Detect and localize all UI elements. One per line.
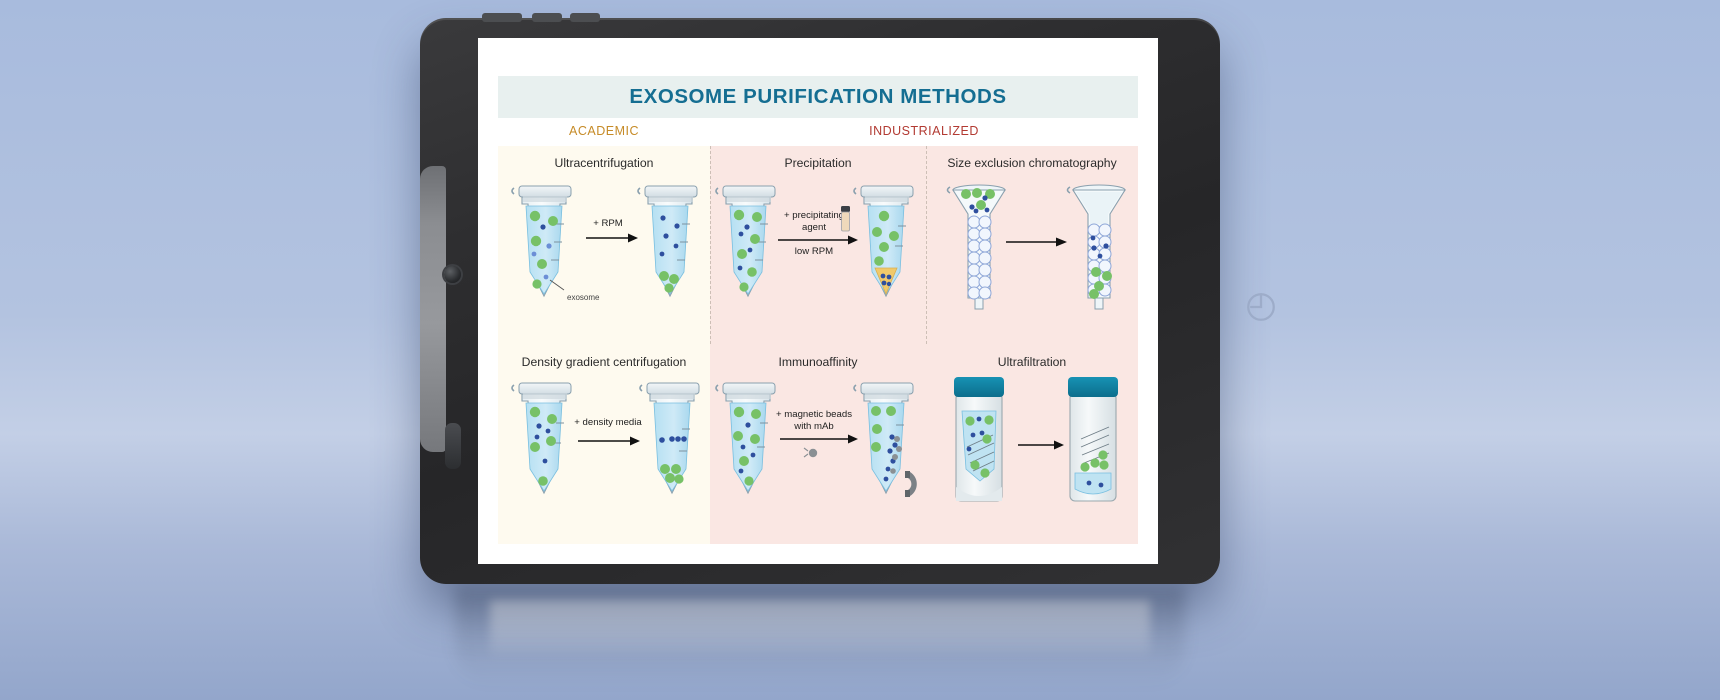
panel-title-size-exclusion-chromatography: Size exclusion chromatography <box>926 156 1138 170</box>
tablet-side-button[interactable] <box>445 423 461 469</box>
arrow-label-precipitating-agent-line1: + precipitating <box>784 210 844 221</box>
tablet-screen[interactable]: EXOSOME PURIFICATION METHODS ACADEMIC IN… <box>478 38 1158 564</box>
scene: EXOSOME PURIFICATION METHODS ACADEMIC IN… <box>0 0 1720 700</box>
reagent-vial-icon <box>841 206 850 231</box>
tablet-top-button-2[interactable] <box>532 13 562 22</box>
arrow-label-magnetic-beads-line1: + magnetic beads <box>776 409 852 420</box>
panel-ultrafiltration[interactable]: Ultrafiltration <box>926 345 1138 544</box>
page-title: EXOSOME PURIFICATION METHODS <box>629 85 1006 109</box>
power-icon[interactable] <box>1244 290 1278 324</box>
poster-title-bar: EXOSOME PURIFICATION METHODS <box>498 76 1138 118</box>
tablet-side-panel <box>420 166 446 452</box>
arrow-label-magnetic-beads-line2: with mAb <box>793 421 833 432</box>
tablet-top-button-1[interactable] <box>482 13 522 22</box>
diagram-ultracentrifugation: exosome + RPM <box>498 178 710 343</box>
category-label-industrialized: INDUSTRIALIZED <box>710 124 1138 138</box>
diagram-ultrafiltration <box>926 373 1138 538</box>
tablet-top-button-3[interactable] <box>570 13 600 22</box>
camera-icon <box>444 266 461 283</box>
panel-title-precipitation: Precipitation <box>710 156 926 170</box>
diagram-precipitation: + precipitating agent low RPM <box>710 178 926 343</box>
arrow-label-density-media: + density media <box>574 417 642 428</box>
tablet-device: EXOSOME PURIFICATION METHODS ACADEMIC IN… <box>420 18 1220 584</box>
infographic: EXOSOME PURIFICATION METHODS ACADEMIC IN… <box>478 38 1158 564</box>
panel-ultracentrifugation[interactable]: Ultracentrifugation <box>498 146 710 345</box>
arrow-label-rpm: + RPM <box>593 218 623 229</box>
panel-title-ultrafiltration: Ultrafiltration <box>926 355 1138 369</box>
arrow-label-low-rpm: low RPM <box>795 246 833 257</box>
diagram-size-exclusion-chromatography <box>926 176 1138 341</box>
diagram-density-gradient-centrifugation: + density media <box>498 375 710 540</box>
category-label-academic: ACADEMIC <box>498 124 710 138</box>
magnet-icon <box>905 471 917 497</box>
panel-density-gradient-centrifugation[interactable]: Density gradient centrifugation <box>498 345 710 544</box>
magnetic-bead-icon <box>804 448 817 457</box>
panel-precipitation[interactable]: Precipitation <box>710 146 926 345</box>
diagram-immunoaffinity: + magnetic beads with mAb <box>710 375 926 540</box>
panel-title-immunoaffinity: Immunoaffinity <box>710 355 926 369</box>
panel-title-density-gradient-centrifugation: Density gradient centrifugation <box>498 355 710 369</box>
tablet-reflection-highlight <box>490 600 1150 660</box>
panel-title-ultracentrifugation: Ultracentrifugation <box>498 156 710 170</box>
panel-size-exclusion-chromatography[interactable]: Size exclusion chromatography <box>926 146 1138 345</box>
arrow-label-precipitating-agent-line2: agent <box>802 222 826 233</box>
methods-grid: Ultracentrifugation <box>498 146 1138 544</box>
panel-immunoaffinity[interactable]: Immunoaffinity <box>710 345 926 544</box>
annotation-exosome: exosome <box>567 293 600 302</box>
